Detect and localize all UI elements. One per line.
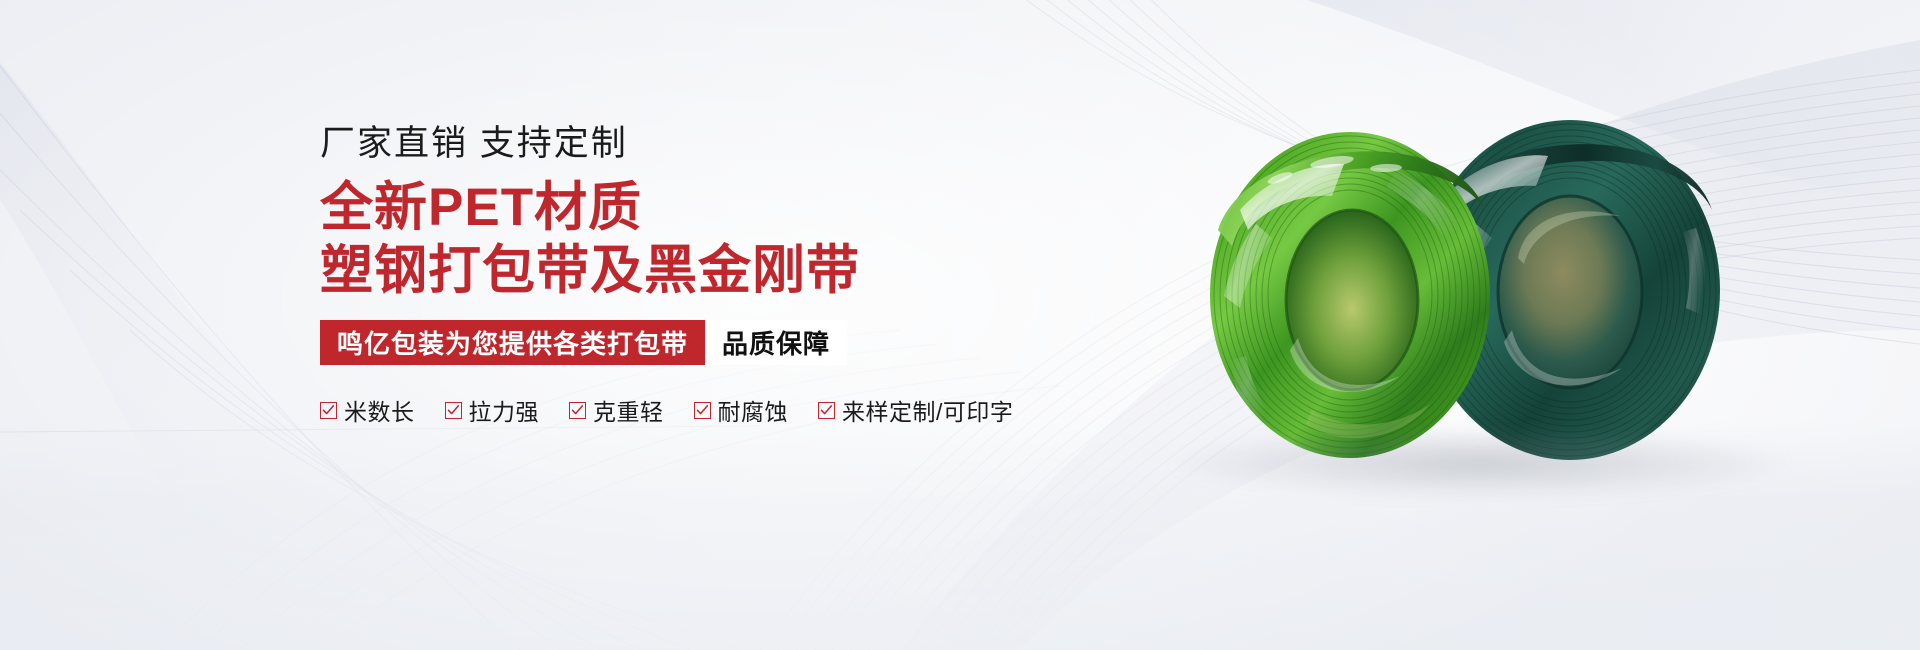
feature-label: 米数长	[344, 393, 415, 427]
quality-badge: 品质保障	[705, 320, 847, 365]
banner-headline-line-2: 塑钢打包带及黑金刚带	[320, 241, 1040, 300]
coil-ground-shadow	[1170, 428, 1790, 498]
feature-item: 克重轻	[569, 393, 664, 427]
checkbox-checked-icon	[320, 402, 337, 419]
feature-item: 拉力强	[445, 393, 540, 427]
feature-item: 耐腐蚀	[694, 393, 789, 427]
feature-list: 米数长 拉力强 克重轻	[320, 393, 1040, 427]
tagline-row: 鸣亿包装为您提供各类打包带 品质保障	[320, 320, 847, 365]
green-coil	[1210, 132, 1490, 458]
checkbox-checked-icon	[569, 402, 586, 419]
checkbox-checked-icon	[445, 402, 462, 419]
banner-headline-line-1: 全新PET材质	[320, 178, 1040, 237]
feature-item: 米数长	[320, 393, 415, 427]
product-image-strapping-coils	[1100, 60, 1920, 620]
feature-item: 来样定制/可印字	[818, 393, 1013, 427]
feature-label: 拉力强	[469, 393, 540, 427]
checkbox-checked-icon	[694, 402, 711, 419]
checkbox-checked-icon	[818, 402, 835, 419]
tagline-primary: 鸣亿包装为您提供各类打包带	[320, 320, 705, 365]
promo-banner: 厂家直销 支持定制 全新PET材质 塑钢打包带及黑金刚带 鸣亿包装为您提供各类打…	[0, 0, 1920, 650]
feature-label: 耐腐蚀	[718, 393, 789, 427]
banner-copy-block: 厂家直销 支持定制 全新PET材质 塑钢打包带及黑金刚带 鸣亿包装为您提供各类打…	[320, 122, 1040, 427]
feature-label: 克重轻	[593, 393, 664, 427]
feature-label: 来样定制/可印字	[842, 393, 1013, 427]
banner-eyebrow: 厂家直销 支持定制	[320, 122, 1040, 166]
